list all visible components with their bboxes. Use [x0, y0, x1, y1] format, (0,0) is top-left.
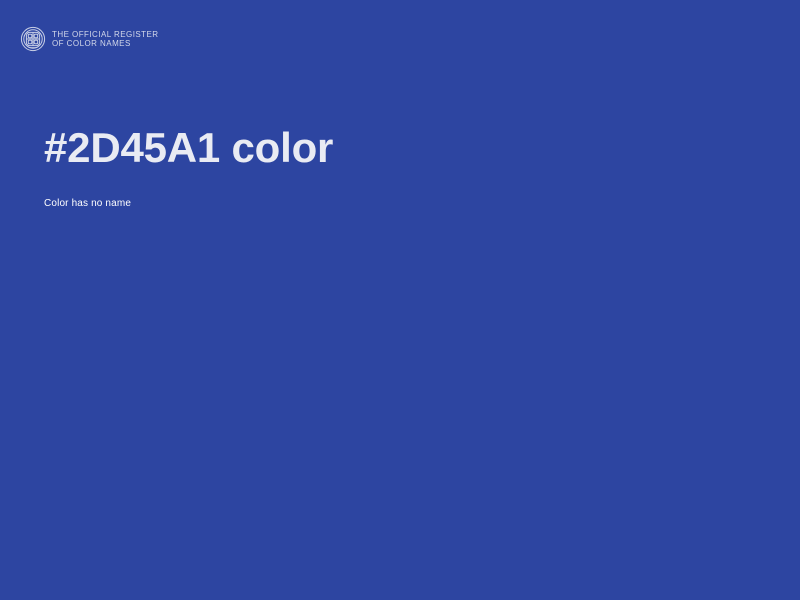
color-name-status: Color has no name	[44, 171, 744, 209]
page-title: #2D45A1 color	[44, 124, 744, 171]
official-register-seal-icon	[20, 26, 46, 52]
color-page: THE OFFICIAL REGISTER OF COLOR NAMES #2D…	[0, 0, 800, 600]
brand-lockup[interactable]: THE OFFICIAL REGISTER OF COLOR NAMES	[20, 26, 159, 52]
brand-line-2: OF COLOR NAMES	[52, 39, 159, 48]
color-info-block: #2D45A1 color Color has no name	[44, 124, 744, 209]
brand-text: THE OFFICIAL REGISTER OF COLOR NAMES	[52, 30, 159, 49]
brand-line-1: THE OFFICIAL REGISTER	[52, 30, 159, 39]
